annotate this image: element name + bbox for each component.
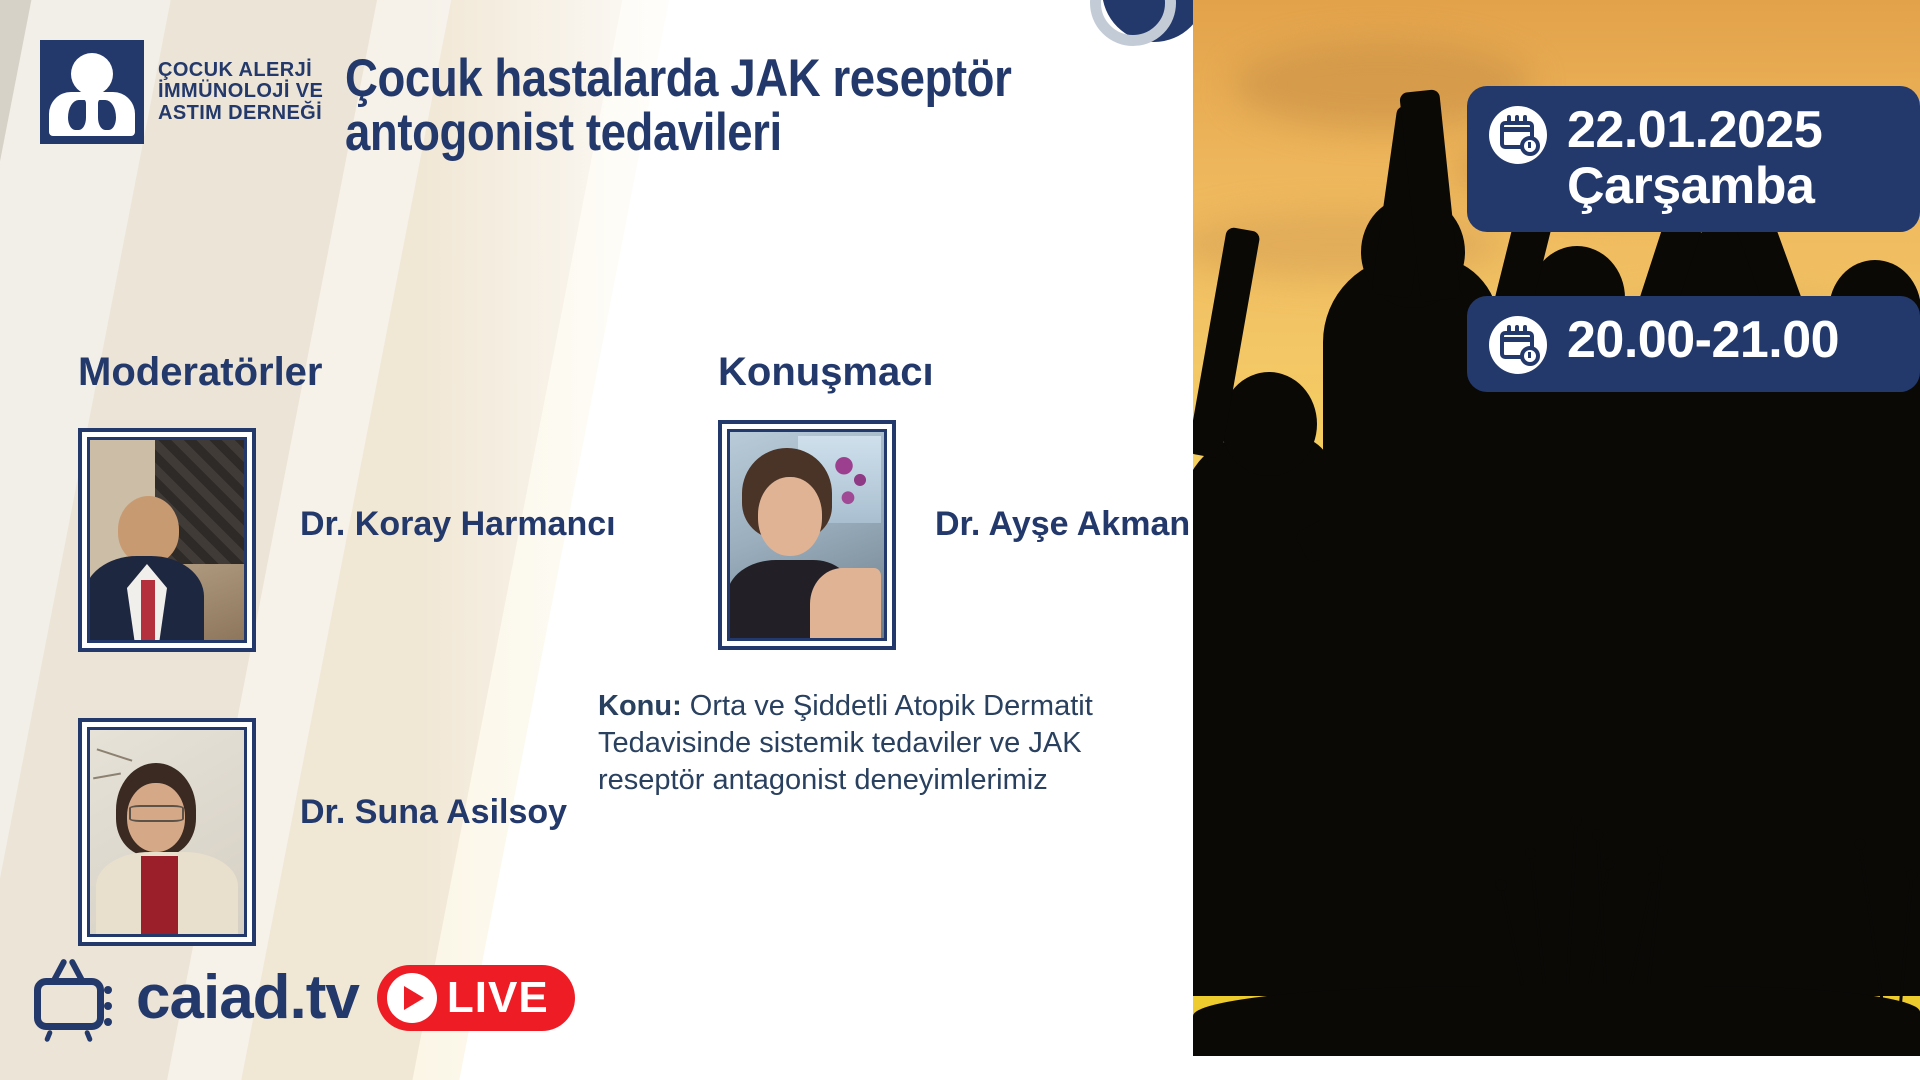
television-icon [34,962,118,1034]
moderator-name-suna-asilsoy: Dr. Suna Asilsoy [300,793,567,831]
event-date: 22.01.2025 [1567,102,1822,158]
lungs-person-icon [40,40,144,144]
moderator-photo-suna-asilsoy [78,718,256,946]
association-logo: ÇOCUK ALERJİ İMMÜNOLOJİ VE ASTIM DERNEĞİ [40,40,323,144]
speaker-heading: Konuşmacı [718,350,934,395]
moderator-photo-koray-harmanci [78,428,256,652]
speaker-name-ayse-akman: Dr. Ayşe Akman [935,505,1190,543]
speaker-photo-ayse-akman [718,420,896,650]
event-time: 20.00-21.00 [1567,312,1839,368]
topic-label: Konu: [598,690,682,722]
topic-text: Konu: Orta ve Şiddetli Atopik Dermatit T… [598,688,1183,799]
calendar-clock-icon [1489,106,1547,164]
logo-line-3: ASTIM DERNEĞİ [158,103,323,125]
logo-line-1: ÇOCUK ALERJİ [158,60,323,82]
moderators-heading: Moderatörler [78,350,323,395]
page-title: Çocuk hastalarda JAK reseptör antogonist… [345,52,1033,160]
calendar-clock-icon [1489,316,1547,374]
association-logo-text: ÇOCUK ALERJİ İMMÜNOLOJİ VE ASTIM DERNEĞİ [158,60,323,125]
play-icon [387,973,437,1023]
logo-line-2: İMMÜNOLOJİ VE [158,81,323,103]
live-label: LIVE [447,976,549,1020]
moderator-name-koray-harmanci: Dr. Koray Harmancı [300,505,616,543]
event-day: Çarşamba [1567,158,1822,214]
footer-branding: caiad.tv LIVE [34,962,575,1034]
time-badge: 20.00-21.00 [1467,296,1920,392]
live-badge[interactable]: LIVE [377,965,575,1031]
date-badge: 22.01.2025 Çarşamba [1467,86,1920,232]
channel-name: caiad.tv [136,967,359,1029]
webinar-poster: ÇOCUK ALERJİ İMMÜNOLOJİ VE ASTIM DERNEĞİ… [0,0,1920,1080]
